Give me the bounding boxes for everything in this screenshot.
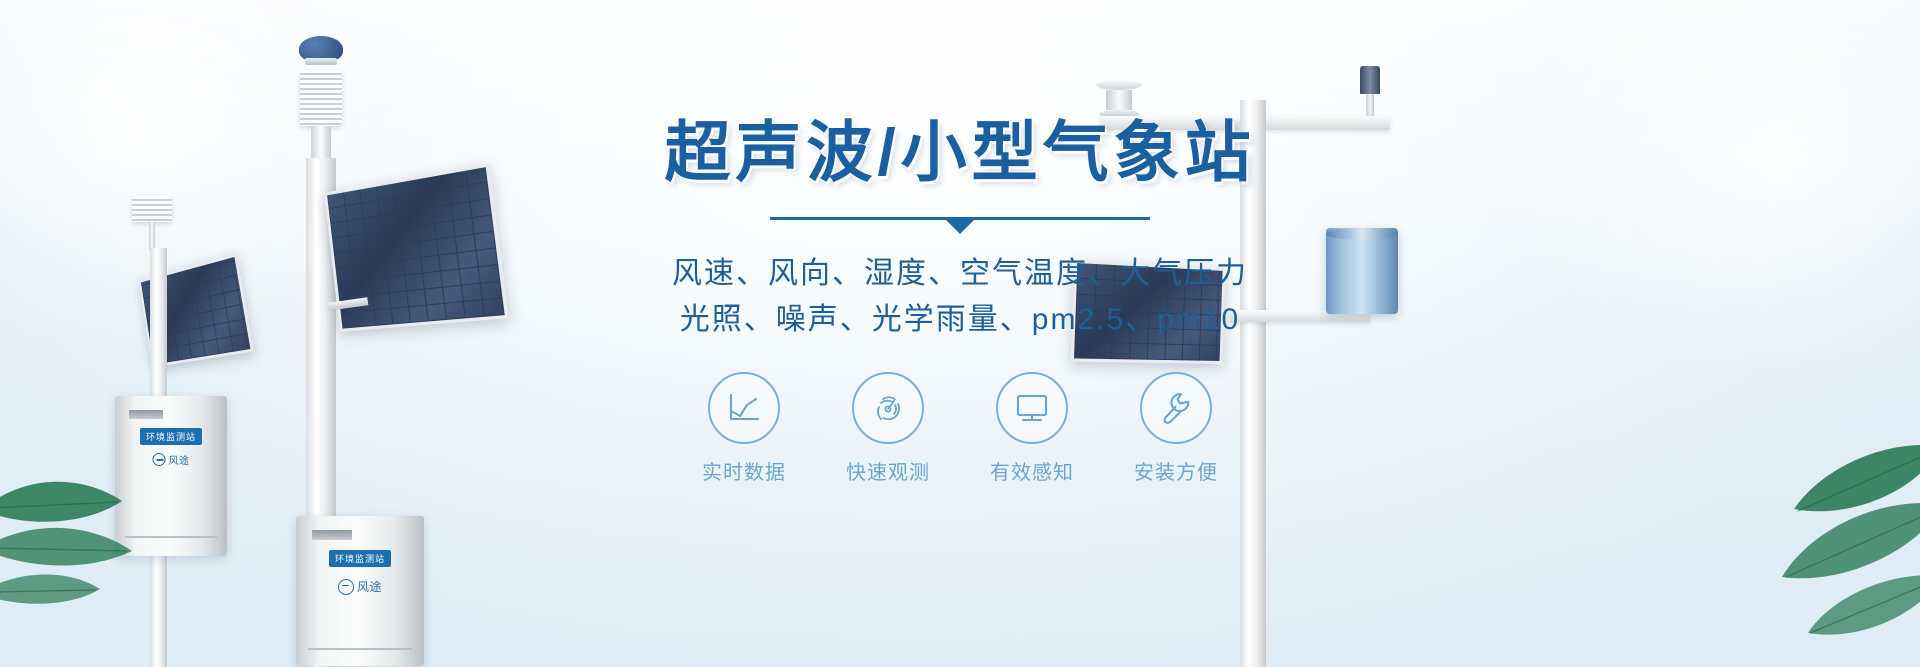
sensor-neck	[311, 126, 331, 160]
line-chart-icon	[708, 372, 780, 444]
subtitle-line-2: 光照、噪声、光学雨量、pm2.5、pm10	[650, 297, 1270, 343]
wind-vane-body	[1360, 66, 1380, 94]
feature-item-easy-installation[interactable]: 安装方便	[1128, 372, 1224, 485]
subtitle-line-1: 风速、风向、湿度、空气温度、大气压力	[650, 251, 1270, 297]
feature-label: 有效感知	[984, 456, 1080, 485]
brand-logo-center: 风途	[338, 578, 382, 595]
ultrasonic-body	[1106, 90, 1132, 110]
brand-name: 风途	[357, 578, 382, 595]
page-title: 超声波/小型气象站	[650, 118, 1270, 187]
anemometer-base	[305, 58, 337, 65]
product-banner: 环境监测站 风途 环境监测站 风途	[0, 0, 1920, 667]
ultrasonic-top-plate	[1096, 80, 1142, 90]
cabinet-seam	[308, 648, 412, 650]
radiation-shield-icon	[132, 196, 172, 222]
feature-item-effective-sensing[interactable]: 有效感知	[984, 372, 1080, 485]
cabinet-vent	[129, 410, 163, 419]
feature-label: 安装方便	[1128, 456, 1224, 485]
subtitle-group: 风速、风向、湿度、空气温度、大气压力 光照、噪声、光学雨量、pm2.5、pm10	[650, 251, 1270, 342]
radiation-shield-tall-icon	[300, 70, 342, 126]
anemometer-head	[299, 36, 343, 70]
rain-gauge-icon	[1326, 228, 1398, 314]
banner-text-block: 超声波/小型气象站 风速、风向、湿度、空气温度、大气压力 光照、噪声、光学雨量、…	[650, 118, 1270, 485]
wind-vane-sensor	[1360, 66, 1380, 118]
cabinet-vent	[312, 530, 352, 540]
chevron-down-icon	[946, 220, 974, 234]
feature-label: 实时数据	[696, 456, 792, 485]
cabinet-label-center: 环境监测站	[329, 550, 391, 567]
ultrasonic-wind-sensor	[1096, 80, 1142, 118]
background-glow-right	[1500, 0, 1920, 380]
feature-item-realtime-data[interactable]: 实时数据	[696, 372, 792, 485]
radar-wind-icon	[852, 372, 924, 444]
wind-vane-stem	[1366, 94, 1374, 118]
monitor-icon	[996, 372, 1068, 444]
title-divider	[650, 211, 1270, 237]
cabinet-label-left: 环境监测站	[140, 428, 202, 445]
feature-label: 快速观测	[840, 456, 936, 485]
leaf-decoration-left	[0, 447, 180, 627]
feature-list: 实时数据 快速观测	[650, 372, 1270, 485]
monitoring-cabinet-center: 环境监测站 风途	[296, 516, 424, 666]
feature-item-fast-observation[interactable]: 快速观测	[840, 372, 936, 485]
brand-mark-icon	[338, 579, 354, 595]
wrench-icon	[1140, 372, 1212, 444]
rain-gauge-rim	[1326, 228, 1398, 240]
leaf-decoration-right	[1690, 427, 1920, 657]
sensor-stem	[149, 222, 155, 250]
